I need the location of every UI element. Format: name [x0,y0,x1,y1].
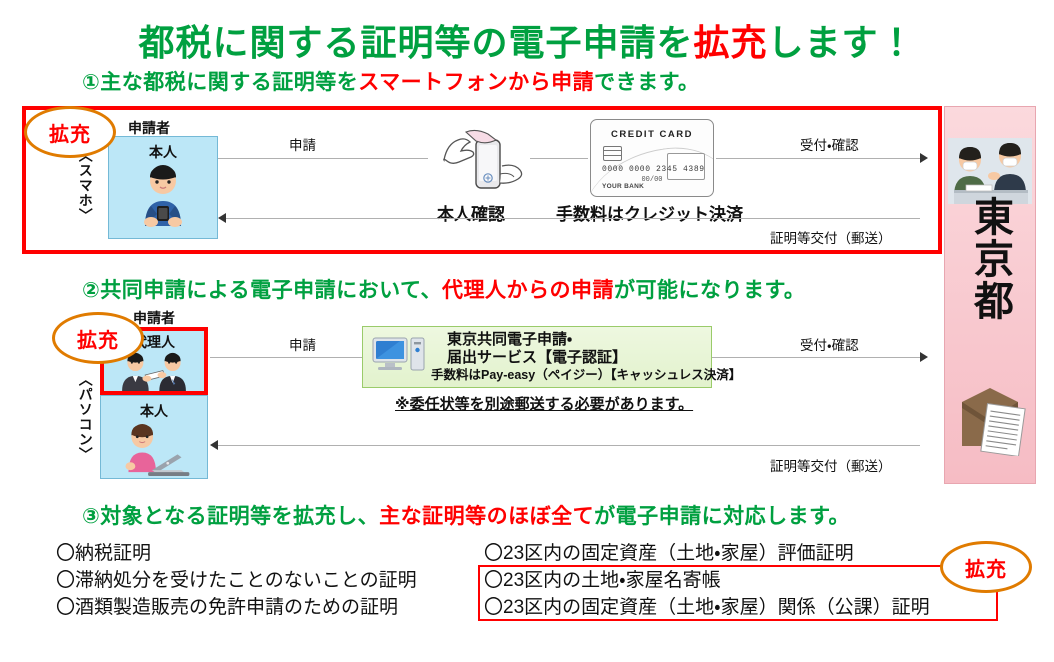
section-1-headline: ①主な都税に関する証明等をスマートフォンから申請できます。 [82,66,700,96]
section-2-arrow-right-label: 受付・確認 [800,334,859,354]
tokyo-label-wrapper: 東京都 [944,196,1036,346]
service-box: 東京共同電子申請・ 届出サービス【電子認証】 手数料はPay-easy（ペイジー… [362,326,712,388]
envelope-document-illustration [958,380,1026,461]
section-2-self-box: 本人 [100,395,208,479]
list-item: 〇納税証明 [56,541,417,568]
section-2-arrow-top-label: 申請 [289,334,316,354]
page-title: 都税に関する証明等の電子申請を拡充します！ [0,14,1054,66]
section-1-process-2-caption: 手数料はクレジット決済 [556,200,743,225]
section-1-arrow-right-label: 受付・確認 [800,134,859,154]
section-3-headline-suffix: が電子申請に対応します。 [594,505,850,528]
list-item: 〇酒類製造販売の免許申請のための証明 [56,595,417,622]
section-3-headline-highlight: 主な証明等のほぼ全て [379,505,594,528]
section-1-kakujyu-badge: 拡充 [24,106,116,158]
section-2-arrow-right-line [712,357,920,358]
certificate-list-left: 〇納税証明 〇滞納処分を受けたことのないことの証明 〇酒類製造販売の免許申請のた… [56,541,417,622]
section-3-kakujyu-badge-label: 拡充 [965,553,1007,582]
section-2-device-label: 〈パソコン〉 [78,372,93,462]
service-box-line-2: 届出サービス【電子認証】 [431,349,741,367]
service-box-line-3: 手数料はPay-easy（ペイジー）【キャッシュレス決済】 [431,368,741,383]
section-1-actor-name: 本人 [149,142,177,162]
person-with-laptop-icon [108,421,200,478]
identity-verification-illustration [436,126,532,207]
section-1-arrow-bottom-line [226,218,920,219]
credit-card-bank: YOUR BANK [602,183,644,190]
section-1-arrow-top-label: 申請 [289,134,316,154]
credit-card-title: CREDIT CARD [591,129,713,140]
section-1-applicant-caption: 申請者 [128,118,170,138]
page-title-part3: します！ [768,22,916,63]
list-item: 〇滞納処分を受けたことのないことの証明 [56,568,417,595]
section-2-headline-highlight: 代理人からの申請 [442,279,614,302]
section-2-arrow-right-head [920,352,928,362]
section-1-actor-box: 本人 [108,136,218,239]
tokyo-metropolis-label: 東京都 [970,196,1010,322]
list-item: 〇23区内の土地・家屋名寄帳 [484,568,930,595]
section-1-arrow-right-line [716,158,920,159]
section-1-headline-highlight: スマートフォンから申請 [358,71,594,94]
section-2-arrow-bottom-label: 証明等交付（郵送） [770,455,892,475]
section-2-arrow-bottom-line [218,445,920,446]
section-1-arrow-mid-line [530,158,588,159]
section-3-kakujyu-badge: 拡充 [940,541,1032,593]
certificate-list-right: 〇23区内の固定資産（土地・家屋）評価証明 〇23区内の土地・家屋名寄帳 〇23… [484,541,930,622]
section-1-kakujyu-badge-label: 拡充 [49,118,91,147]
section-2-arrow-bottom-head [210,440,218,450]
section-2-headline: ②共同申請による電子申請において、代理人からの申請が可能になります。 [82,274,805,304]
section-1-device-label: 〈スマホ〉 [78,148,93,223]
page-title-part1: 都税に関する証明等の電子申請を [138,22,693,63]
desktop-computer-icon [371,335,427,380]
service-box-line-1: 東京共同電子申請・ [431,331,741,349]
section-1-arrow-bottom-head [218,213,226,223]
section-1-arrow-right-head [920,153,928,163]
credit-card-illustration: CREDIT CARD 0000 0000 2345 4389 00/00 YO… [590,119,714,197]
section-2-headline-prefix: ②共同申請による電子申請において、 [82,279,442,302]
credit-card-chip-icon [603,146,622,161]
section-1-arrow-bottom-label: 証明等交付（郵送） [770,227,892,247]
section-1-process-1-caption: 本人確認 [437,200,505,225]
person-with-phone-icon [131,164,195,230]
section-1-headline-prefix: ①主な都税に関する証明等を [82,71,358,94]
section-3-headline: ③対象となる証明等を拡充し、主な証明等のほぼ全てが電子申請に対応します。 [82,500,850,530]
section-2-arrow-top-line [210,357,362,358]
section-2-note: ※委任状等を別途郵送する必要があります。 [395,393,693,414]
section-2-headline-suffix: が可能になります。 [614,279,805,302]
section-1-headline-suffix: できます。 [594,71,699,94]
section-2-kakujyu-badge-label: 拡充 [77,324,119,353]
section-2-kakujyu-badge: 拡充 [52,312,144,364]
credit-card-number: 0000 0000 2345 4389 [602,165,705,174]
list-item: 〇23区内の固定資産（土地・家屋）評価証明 [484,541,930,568]
page-title-highlight: 拡充 [693,22,767,63]
list-item: 〇23区内の固定資産（土地・家屋）関係（公課）証明 [484,595,930,622]
section-2-self-name: 本人 [140,401,168,421]
section-2-applicant-caption: 申請者 [133,308,175,328]
section-3-headline-prefix: ③対象となる証明等を拡充し、 [82,505,379,528]
section-1-arrow-top-line [218,158,428,159]
